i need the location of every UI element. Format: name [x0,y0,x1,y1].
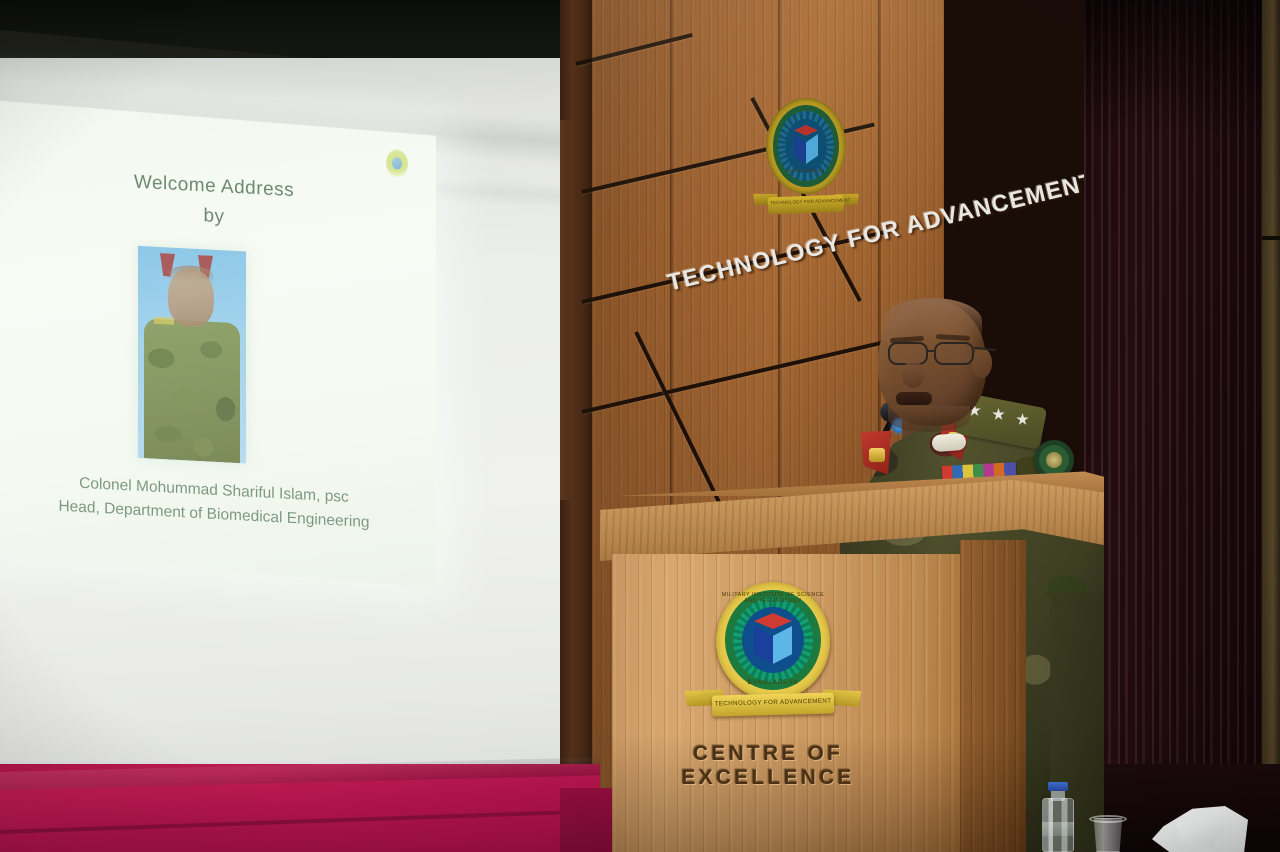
speaker-mouth [896,392,932,405]
wall-trim-line [1262,236,1280,240]
mist-crest-watermark-icon [386,149,408,178]
podium-plaque-text: CENTRE OF EXCELLENCE [634,742,902,790]
uniform-name-tag [931,433,966,452]
emblem-ribbon: TECHNOLOGY FOR ADVANCEMENT [686,682,860,726]
emblem-arc-bottom: BANGLADESH [766,168,846,173]
pillar-highlight [560,120,572,500]
projected-slide: Welcome Address by Colonel Mohummad Shar… [0,100,436,588]
glass-rim [1089,815,1127,823]
slide-content: Welcome Address by Colonel Mohummad Shar… [0,106,436,581]
officer-portrait-photo [138,246,246,464]
auditorium-stage-scene: Welcome Address by Colonel Mohummad Shar… [0,0,1280,852]
portrait-name-tag [154,317,174,325]
emblem-cube-icon [748,613,798,667]
portrait-uniform [144,318,240,463]
bottle-label [1042,822,1074,836]
bottle-cap [1048,782,1068,791]
emblem-arc-top: MILITARY INSTITUTE OF SCIENCE AND TECHNO… [716,592,830,604]
speaker-chin [888,406,970,432]
eyeglasses-icon [882,342,990,368]
water-bottle[interactable] [1040,782,1076,852]
glass-body [1091,818,1125,852]
wall-mist-emblem: BANGLADESH TECHNOLOGY FOR ADVANCEMENT [754,98,858,232]
emblem-cube-icon [790,125,822,167]
plastic-glass[interactable] [1088,812,1128,852]
speaker-nose [902,362,924,388]
gorget-badge-left [869,448,885,462]
podium-mist-emblem: MILITARY INSTITUTE OF SCIENCE AND TECHNO… [686,582,860,726]
wooden-podium: MILITARY INSTITUTE OF SCIENCE AND TECHNO… [600,470,1104,852]
curtain-top-shadow [1084,0,1280,140]
emblem-ribbon: TECHNOLOGY FOR ADVANCEMENT [754,186,858,228]
right-side-wall [1262,0,1280,852]
